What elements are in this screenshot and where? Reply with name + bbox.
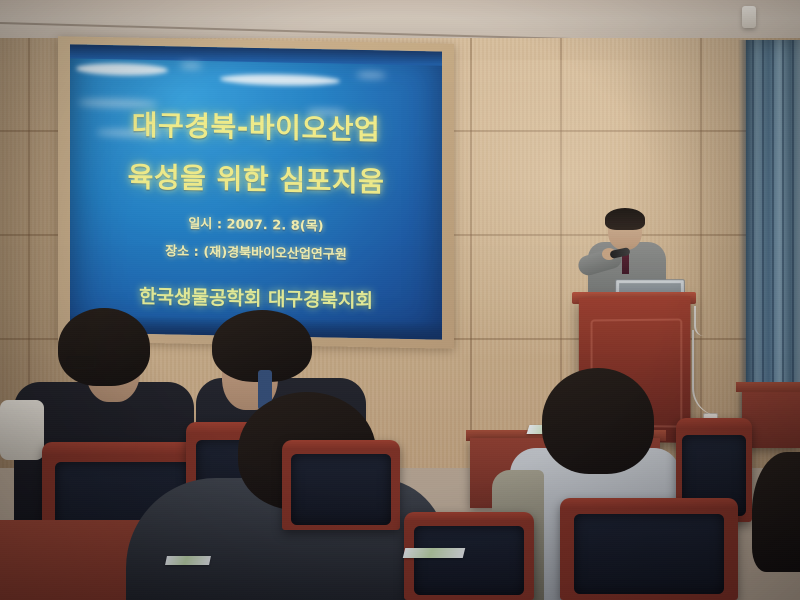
slide-venue-line: 장소 : (재)경북바이오산업연구원 (70, 238, 442, 264)
audience-hoodie-head (542, 368, 654, 474)
audience-far-right-head (752, 452, 800, 572)
handout-brochure (403, 548, 465, 558)
speaker-hair (605, 208, 645, 230)
power-cable (692, 330, 720, 416)
audience-left-paper (0, 400, 44, 460)
power-cable (694, 306, 706, 336)
photo-scene: 대구경북-바이오산업 육성을 위한 심포지움 일시 : 2007. 2. 8(목… (0, 0, 800, 600)
glasses-icon (66, 356, 96, 369)
slide-title-line-2: 육성을 위한 심포지움 (70, 154, 442, 201)
slide-title-line-1: 대구경북-바이오산업 (70, 102, 442, 149)
handout-brochure (165, 556, 211, 565)
side-desk-top (736, 382, 800, 392)
slide-content: 대구경북-바이오산업 육성을 위한 심포지움 일시 : 2007. 2. 8(목… (70, 44, 442, 339)
audience-left-head (58, 308, 150, 386)
window-blinds (746, 40, 800, 440)
ceiling-light-icon (742, 6, 756, 28)
chair (282, 440, 400, 530)
slide-date-line: 일시 : 2007. 2. 8(목) (70, 210, 442, 236)
projection-screen: 대구경북-바이오산업 육성을 위한 심포지움 일시 : 2007. 2. 8(목… (70, 44, 442, 339)
chair (560, 498, 738, 600)
